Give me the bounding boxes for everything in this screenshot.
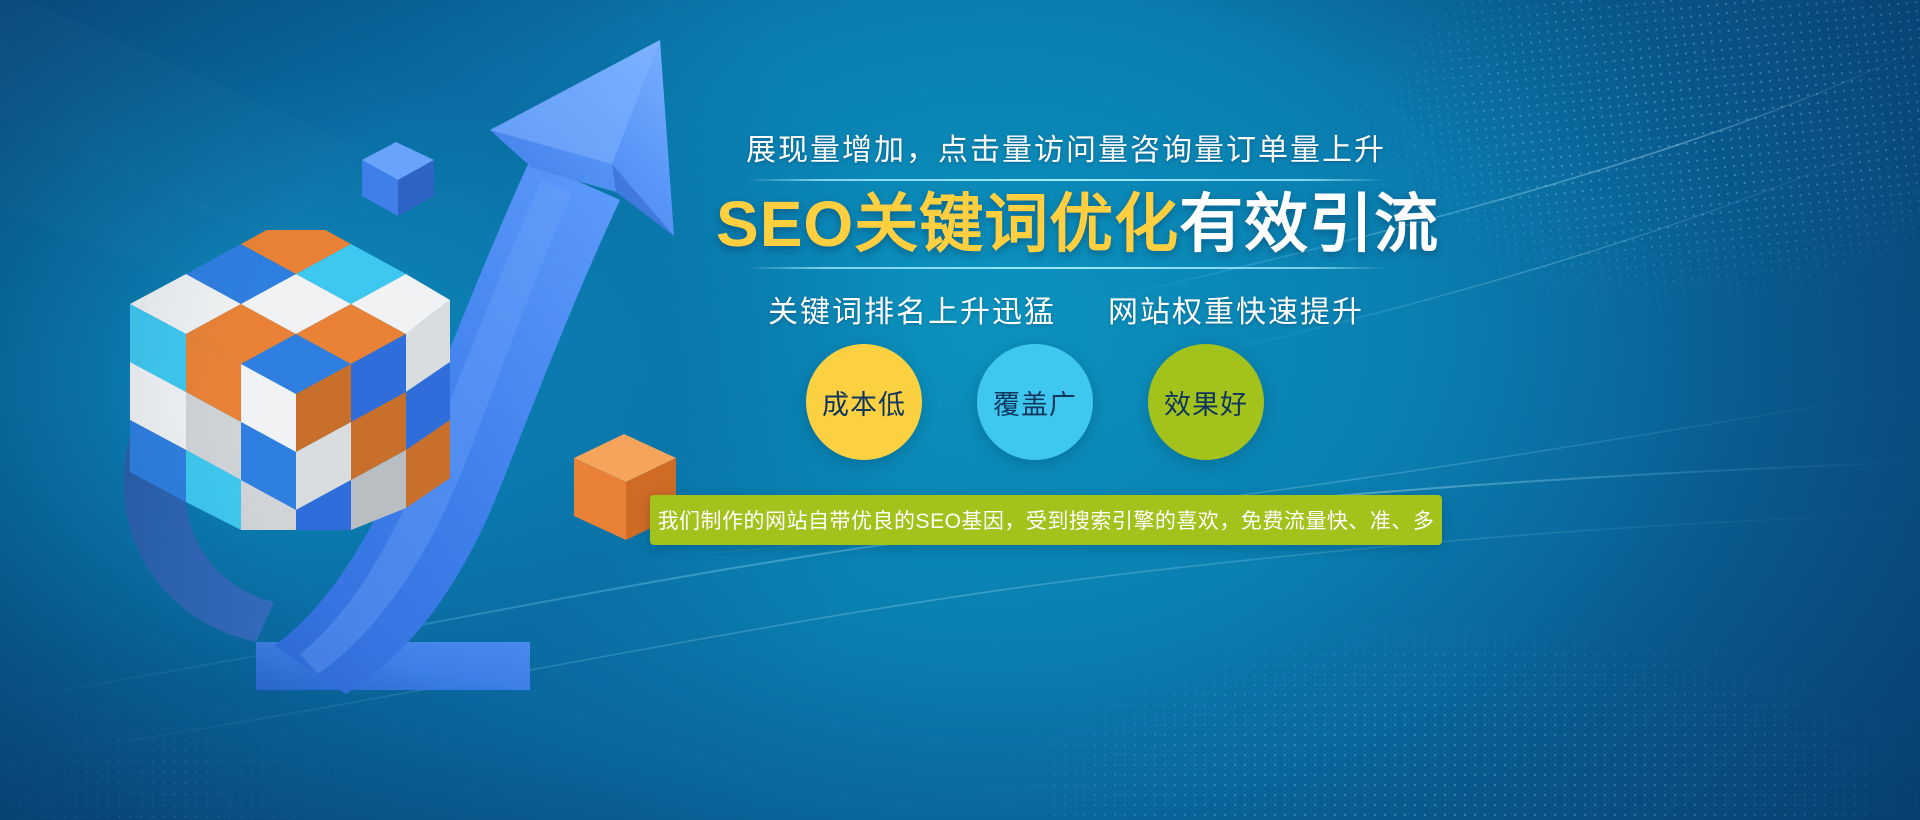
eyebrow-text: 展现量增加，点击量访问量咨询量订单量上升 [716,132,1416,170]
page-title: SEO关键词优化有效引流 [716,189,1416,261]
feature-bubble-result-label: 效果好 [1164,383,1248,422]
feature-bubble-cost[interactable]: 成本低 [806,344,922,460]
rubiks-cube-graphic [110,230,450,530]
footer-note-bar: 我们制作的网站自带优良的SEO基因，受到搜索引擎的喜欢，免费流量快、准、多 [650,495,1442,545]
seo-promo-banner: 展现量增加，点击量访问量咨询量订单量上升 SEO关键词优化有效引流 关键词排名上… [0,0,1920,820]
divider-bottom [746,267,1386,269]
floating-cube-blue [352,130,444,227]
rubiks-cube-icon [110,230,450,530]
feature-bubble-coverage-label: 覆盖广 [993,383,1077,422]
subtitle-right: 网站权重快速提升 [1108,296,1364,329]
headline-block: 展现量增加，点击量访问量咨询量订单量上升 SEO关键词优化有效引流 关键词排名上… [716,132,1416,331]
feature-bubble-group: 成本低 覆盖广 效果好 [806,344,1264,460]
divider-top [746,179,1386,181]
subtitle-left: 关键词排名上升迅猛 [768,296,1056,329]
feature-bubble-result[interactable]: 效果好 [1148,344,1264,460]
feature-bubble-cost-label: 成本低 [822,383,906,422]
headline-highlight: SEO关键词优化 [716,188,1179,260]
headline-rest: 有效引流 [1179,188,1439,260]
subtitle-row: 关键词排名上升迅猛网站权重快速提升 [716,287,1416,331]
feature-bubble-coverage[interactable]: 覆盖广 [977,344,1093,460]
footer-note-text: 我们制作的网站自带优良的SEO基因，受到搜索引擎的喜欢，免费流量快、准、多 [658,505,1435,535]
